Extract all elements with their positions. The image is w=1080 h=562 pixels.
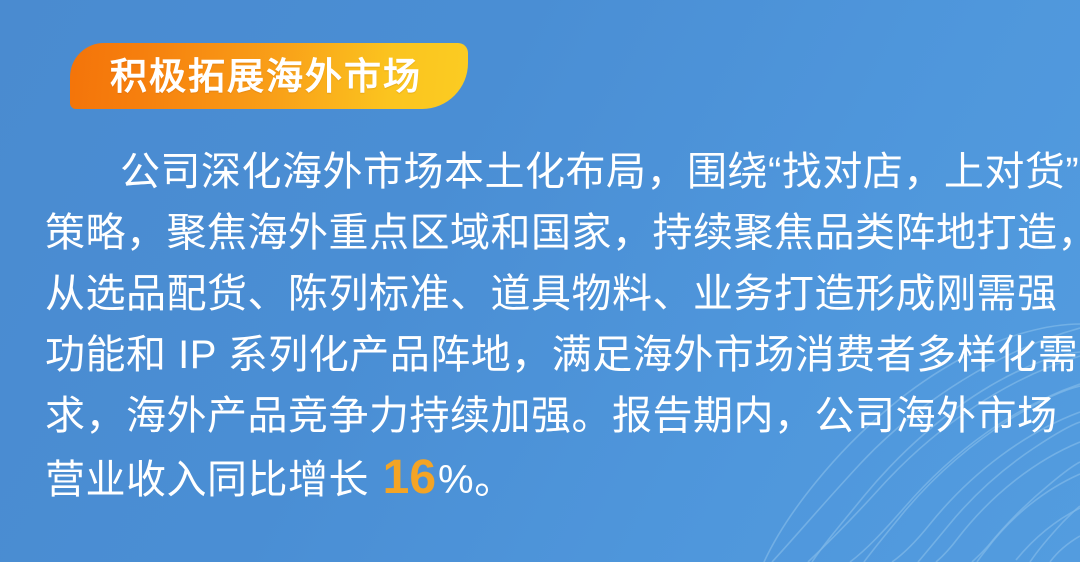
body-line: 策略，聚焦海外重点区域和国家，持续聚焦品类阵地打造， (45, 203, 1040, 264)
body-line-final: 营业收入同比增长 16%。 (45, 447, 1040, 511)
growth-percentage-value: 16 (381, 451, 438, 504)
section-title-banner: 积极拓展海外市场 (70, 43, 468, 109)
body-paragraph: 公司深化海外市场本土化布局，围绕“找对店，上对货” 策略，聚焦海外重点区域和国家… (45, 142, 1040, 511)
page-title: 积极拓展海外市场 (110, 58, 422, 95)
body-line: 从选品配货、陈列标准、道具物料、业务打造形成刚需强 (45, 264, 1040, 325)
body-line: 公司深化海外市场本土化布局，围绕“找对店，上对货” (45, 142, 1040, 203)
growth-suffix-text: %。 (438, 458, 515, 502)
growth-prefix-text: 营业收入同比增长 (45, 458, 381, 502)
body-line: 功能和 IP 系列化产品阵地，满足海外市场消费者多样化需 (45, 325, 1040, 386)
slide-root: 积极拓展海外市场 公司深化海外市场本土化布局，围绕“找对店，上对货” 策略，聚焦… (0, 0, 1080, 562)
body-line: 求，海外产品竞争力持续加强。报告期内，公司海外市场 (45, 386, 1040, 447)
